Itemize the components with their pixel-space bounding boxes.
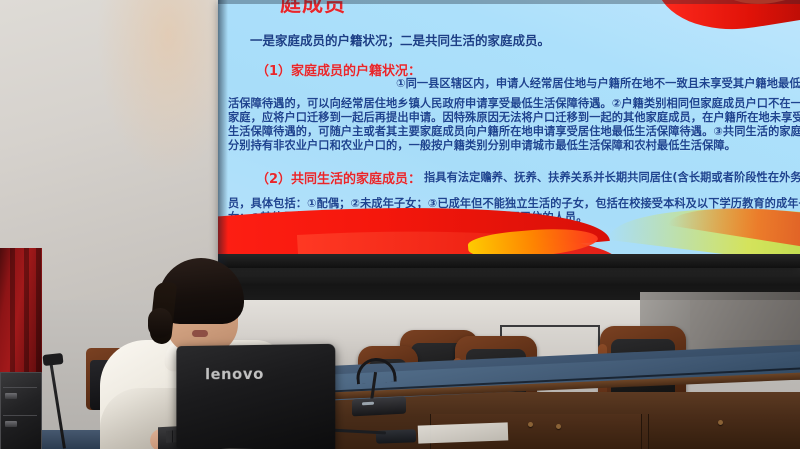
slide-lead-line: 一是家庭成员的户籍状况；二是共同生活的家庭成员。 xyxy=(250,30,790,49)
slide-heading-2: （2）共同生活的家庭成员： xyxy=(256,168,421,187)
screenshot-root: 庭成员 一是家庭成员的户籍状况；二是共同生活的家庭成员。 （1）家庭成员的户籍状… xyxy=(0,0,800,449)
documents xyxy=(418,422,509,443)
slide-text-container: 庭成员 一是家庭成员的户籍状况；二是共同生活的家庭成员。 （1）家庭成员的户籍状… xyxy=(218,0,800,240)
screen-left-shadow xyxy=(218,0,228,268)
microphone-indicator xyxy=(362,402,374,406)
laptop-brand-logo: lenovo xyxy=(205,365,264,383)
screen-top-edge xyxy=(218,0,800,4)
conference-microphone xyxy=(352,397,406,417)
slide-heading-2-inline: 指具有法定赡养、抚养、扶养关系并长期共同居住(含长期或者阶段性在外务工)的成 xyxy=(424,170,800,185)
wall-light-reflection xyxy=(96,0,216,180)
slide-heading-1-inline: ①同一县区辖区内，申请人经常居住地与户籍所在地不一致且未享受其户籍地最低生 xyxy=(396,76,800,91)
hair-bun xyxy=(148,308,172,338)
tripod-stand-head xyxy=(42,353,63,366)
table-knob xyxy=(556,424,561,429)
ribbon-dark-edge xyxy=(218,254,800,268)
slide-bottom-ribbon xyxy=(218,208,800,268)
table-knob xyxy=(718,420,723,425)
slide-body-line-4: 分别持有非农业户口和农业户口的，一般按户籍类别分别申请城市最低生活保障和农村最低… xyxy=(228,138,800,153)
projection-screen: 庭成员 一是家庭成员的户籍状况；二是共同生活的家庭成员。 （1）家庭成员的户籍状… xyxy=(218,0,800,268)
table-front-panel-2 xyxy=(648,414,800,449)
table-knob xyxy=(528,422,533,427)
laptop[interactable]: lenovo xyxy=(176,344,335,449)
wall-right-panel xyxy=(690,300,800,340)
equipment-case xyxy=(0,372,42,449)
mouth xyxy=(192,330,208,337)
